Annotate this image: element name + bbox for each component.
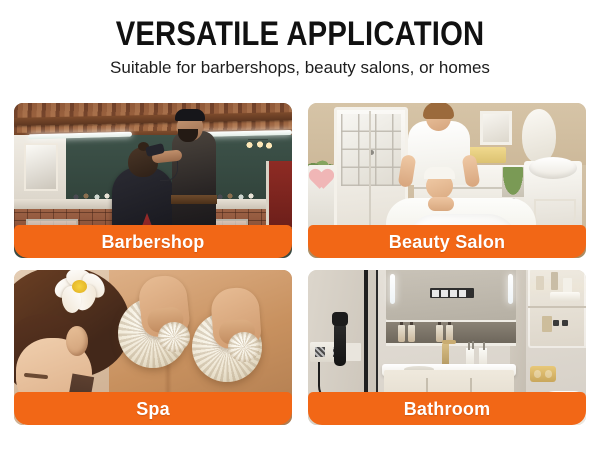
application-card-beauty-salon[interactable]: Beauty Salon	[308, 103, 586, 258]
banner-header: VERSATILE APPLICATION Suitable for barbe…	[0, 0, 600, 78]
card-label-bathroom: Bathroom	[308, 392, 586, 425]
versatile-application-banner: VERSATILE APPLICATION Suitable for barbe…	[0, 0, 600, 450]
card-label-text: Beauty Salon	[389, 233, 505, 251]
page-title: VERSATILE APPLICATION	[42, 17, 558, 51]
frangipani-flower-icon	[52, 270, 110, 310]
application-card-bathroom[interactable]: Bathroom	[308, 270, 586, 425]
application-card-spa[interactable]: Spa	[14, 270, 292, 425]
mirror-display	[430, 288, 474, 298]
card-label-beauty-salon: Beauty Salon	[308, 225, 586, 258]
card-label-text: Bathroom	[404, 400, 491, 418]
card-label-text: Spa	[136, 400, 170, 418]
page-subtitle: Suitable for barbershops, beauty salons,…	[0, 58, 600, 78]
application-card-barbershop[interactable]: Barbershop	[14, 103, 292, 258]
card-label-barbershop: Barbershop	[14, 225, 292, 258]
card-label-spa: Spa	[14, 392, 292, 425]
card-label-text: Barbershop	[101, 233, 204, 251]
application-grid: Barbershop	[14, 103, 586, 425]
